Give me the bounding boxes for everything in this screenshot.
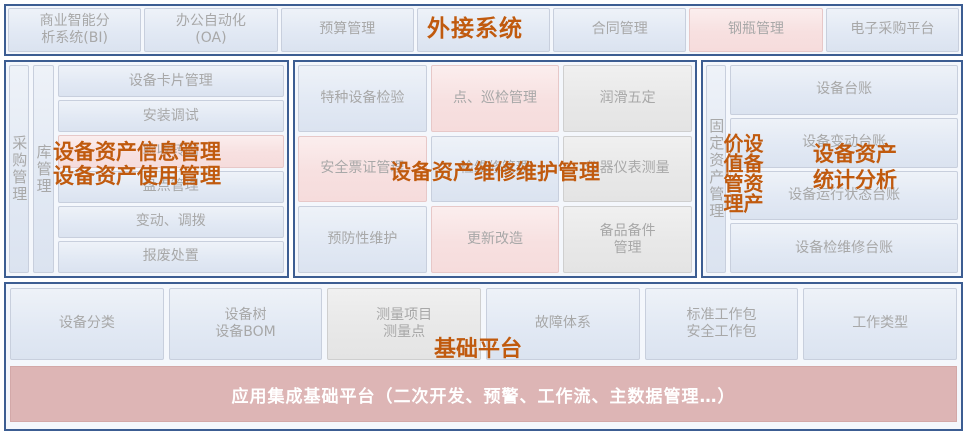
tile-spare-parts-mgmt[interactable]: 备品备件 管理 [563,206,692,273]
tile-work-type[interactable]: 工作类型 [803,288,957,360]
tile-preventive-maintenance[interactable]: 预防性维护 [298,206,427,273]
top-tile-obscured[interactable] [417,8,550,52]
tile-equipment-tree-bom[interactable]: 设备树 设备BOM [169,288,323,360]
top-tile-cylinder[interactable]: 钢瓶管理 [689,8,822,52]
tile-change-transfer[interactable]: 变动、调拨 [58,206,284,238]
tile-equipment-classification[interactable]: 设备分类 [10,288,164,360]
tile-point-patrol-mgmt[interactable]: 点、巡检管理 [431,65,560,132]
top-tile-eprocurement[interactable]: 电子采购平台 [826,8,959,52]
top-tile-bi[interactable]: 商业智能分 析系统(BI) [8,8,141,52]
tile-safety-permit-mgmt[interactable]: 安全票证管理 [298,136,427,203]
tile-fault-system[interactable]: 故障体系 [486,288,640,360]
vertical-label-fixed-asset-mgmt: 固定资产管理 [706,65,726,273]
tile-renewal-upgrade[interactable]: 更新改造 [431,206,560,273]
tile-equipment-running-status-ledger[interactable]: 设备运行状态台账 [730,171,958,221]
maintenance-panel: 特种设备检验 点、巡检管理 润滑五定 安全票证管理 检维修管理 仪器仪表测量 预… [293,60,697,278]
top-external-systems-row: 商业智能分 析系统(BI) 办公自动化 (OA) 预算管理 合同管理 钢瓶管理 … [4,4,963,56]
tile-equipment-card-mgmt[interactable]: 设备卡片管理 [58,65,284,97]
maintenance-grid: 特种设备检验 点、巡检管理 润滑五定 安全票证管理 检维修管理 仪器仪表测量 预… [298,65,692,273]
asset-info-panel: 采购管理 库管理 设备卡片管理 安装调试 验收转固 盘点管理 变动、调拨 报废处… [4,60,289,278]
integration-platform-bar: 应用集成基础平台（二次开发、预警、工作流、主数据管理…） [10,366,957,422]
top-tile-contract[interactable]: 合同管理 [553,8,686,52]
tile-inspection-repair-mgmt[interactable]: 检维修管理 [431,136,560,203]
tile-lubrication-five-fixed[interactable]: 润滑五定 [563,65,692,132]
asset-info-stack: 设备卡片管理 安装调试 验收转固 盘点管理 变动、调拨 报废处置 [58,65,284,273]
ledger-panel: 固定资产管理 设备台账 设备变动台账 设备运行状态台账 设备检维修台账 [701,60,963,278]
base-platform-panel: 设备分类 设备树 设备BOM 测量项目 测量点 故障体系 标准工作包 安全工作包… [4,282,963,431]
top-tile-oa[interactable]: 办公自动化 (OA) [144,8,277,52]
tile-acceptance-capitalize[interactable]: 验收转固 [58,135,284,167]
tile-standard-safety-work-package[interactable]: 标准工作包 安全工作包 [645,288,799,360]
tile-equipment-repair-ledger[interactable]: 设备检维修台账 [730,223,958,273]
tile-scrap-disposal[interactable]: 报废处置 [58,241,284,273]
tile-measurement-item-point[interactable]: 测量项目 测量点 [327,288,481,360]
tile-special-equipment-inspection[interactable]: 特种设备检验 [298,65,427,132]
tile-instrument-measurement[interactable]: 仪器仪表测量 [563,136,692,203]
top-tile-budget[interactable]: 预算管理 [281,8,414,52]
tile-equipment-change-ledger[interactable]: 设备变动台账 [730,118,958,168]
vertical-label-procurement: 采购管理 [9,65,29,273]
tile-equipment-ledger[interactable]: 设备台账 [730,65,958,115]
base-tiles-row: 设备分类 设备树 设备BOM 测量项目 测量点 故障体系 标准工作包 安全工作包… [10,288,957,360]
tile-install-commission[interactable]: 安装调试 [58,100,284,132]
tile-inventory-check[interactable]: 盘点管理 [58,171,284,203]
ledger-stack: 设备台账 设备变动台账 设备运行状态台账 设备检维修台账 [730,65,958,273]
vertical-label-warehouse: 库管理 [33,65,53,273]
architecture-diagram: 商业智能分 析系统(BI) 办公自动化 (OA) 预算管理 合同管理 钢瓶管理 … [0,0,967,435]
middle-band: 采购管理 库管理 设备卡片管理 安装调试 验收转固 盘点管理 变动、调拨 报废处… [4,60,963,278]
